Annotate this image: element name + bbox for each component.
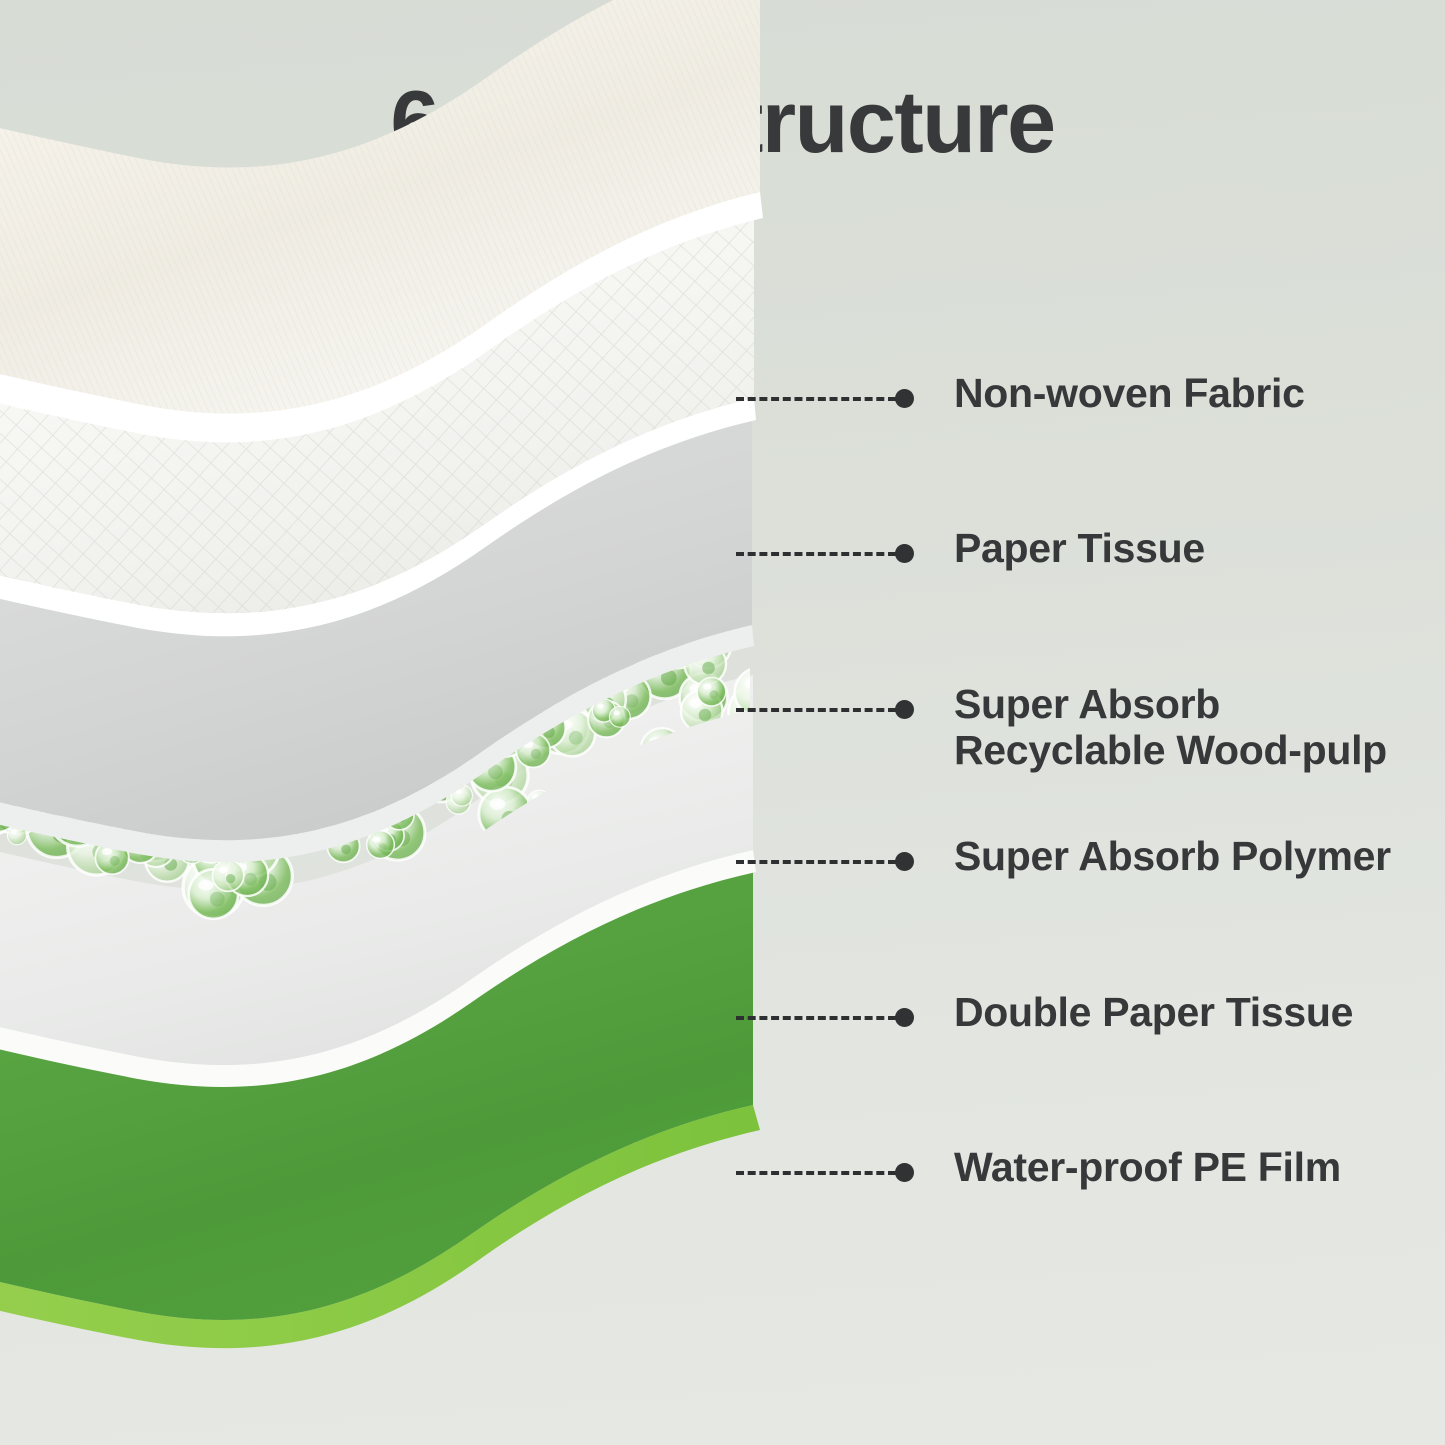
- dashed-line-icon: [736, 552, 896, 556]
- bullet-dot-icon: [895, 544, 914, 563]
- callout-label-2: Paper Tissue: [954, 526, 1205, 572]
- dashed-line-icon: [736, 708, 896, 712]
- dashed-line-icon: [736, 860, 896, 864]
- leader-line-4: [736, 851, 914, 871]
- bullet-dot-icon: [895, 1163, 914, 1182]
- callout-paper-tissue: Paper Tissue: [736, 526, 1205, 572]
- dashed-line-icon: [736, 397, 896, 401]
- bullet-dot-icon: [895, 700, 914, 719]
- leader-line-2: [736, 543, 914, 563]
- callout-recyclable-wood-pulp: Super Absorb Recyclable Wood-pulp: [736, 682, 1387, 774]
- callout-non-woven-fabric: Non-woven Fabric: [736, 371, 1305, 417]
- dashed-line-icon: [736, 1171, 896, 1175]
- bullet-dot-icon: [895, 389, 914, 408]
- bullet-dot-icon: [895, 1008, 914, 1027]
- product-structure-infographic: 6-layer structure: [0, 0, 1445, 1445]
- callout-label-3: Super Absorb Recyclable Wood-pulp: [954, 682, 1387, 774]
- callout-label-6: Water-proof PE Film: [954, 1145, 1341, 1191]
- leader-line-6: [736, 1162, 914, 1182]
- leader-line-1: [736, 388, 914, 408]
- dashed-line-icon: [736, 1016, 896, 1020]
- callout-super-absorb-polymer: Super Absorb Polymer: [736, 834, 1391, 880]
- leader-line-3: [736, 699, 914, 719]
- callout-label-1: Non-woven Fabric: [954, 371, 1305, 417]
- callout-label-group: Non-woven Fabric Paper Tissue Super Abso…: [0, 0, 1445, 1445]
- leader-line-5: [736, 1007, 914, 1027]
- callout-double-paper-tissue: Double Paper Tissue: [736, 990, 1353, 1036]
- callout-label-5: Double Paper Tissue: [954, 990, 1353, 1036]
- bullet-dot-icon: [895, 852, 914, 871]
- callout-water-proof-pe-film: Water-proof PE Film: [736, 1145, 1341, 1191]
- callout-label-4: Super Absorb Polymer: [954, 834, 1391, 880]
